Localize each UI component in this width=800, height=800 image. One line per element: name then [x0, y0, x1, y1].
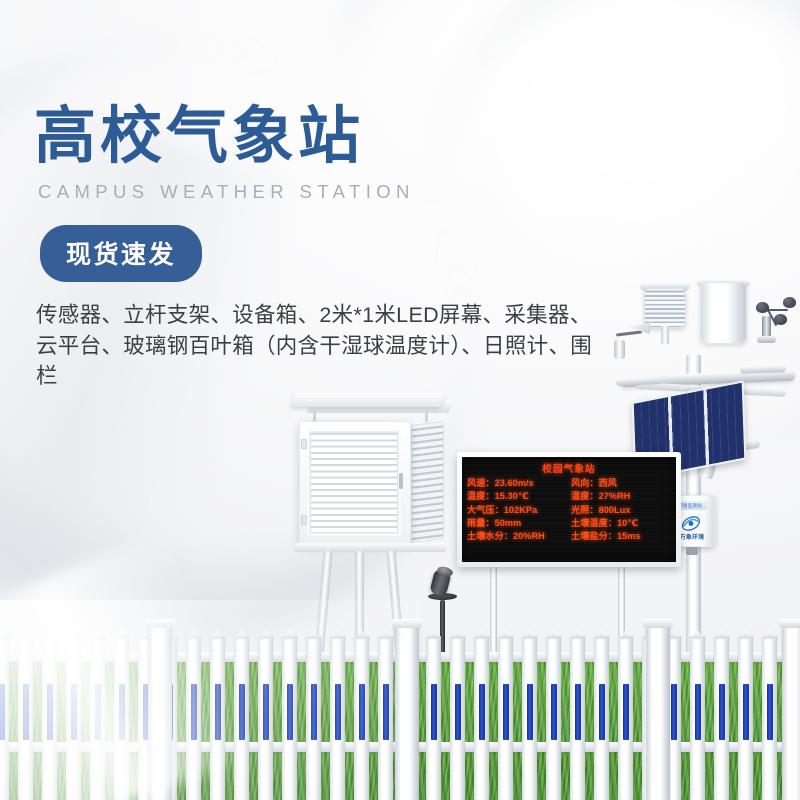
led-reading-wind-direction: 风向：西风 — [571, 477, 671, 490]
fence-picket-stripe — [191, 684, 197, 740]
led-reading-soil-moisture: 土壤水分：20%RH — [467, 530, 567, 543]
led-reading-humidity: 湿度：27%RH — [571, 490, 671, 503]
wind-vane-body — [614, 340, 625, 359]
fence-picket — [738, 636, 753, 800]
fence-picket — [18, 636, 33, 800]
fence-picket — [498, 636, 513, 800]
fence-picket — [114, 636, 129, 800]
led-screen: 校园气象站 风速：23.60m/s 风向：西风 温度：15.30℃ 湿度：27%… — [462, 457, 676, 562]
led-reading-rainfall: 雨量：50mm — [467, 517, 567, 530]
fence-picket-stripe — [263, 684, 269, 740]
led-display-board: 校园气象站 风速：23.60m/s 风向：西风 温度：15.30℃ 湿度：27%… — [457, 452, 681, 567]
fence-picket-stripe — [767, 684, 773, 740]
fence-picket — [450, 636, 465, 800]
fence-picket-stripe — [455, 684, 461, 740]
screen-hinge-top — [301, 439, 307, 449]
screen-roof-leg-left — [313, 407, 316, 422]
fence-post-cap — [392, 619, 422, 628]
led-readings-grid: 风速：23.60m/s 风向：西风 温度：15.30℃ 湿度：27%RH 大气压… — [467, 477, 671, 544]
fence-picket — [306, 636, 321, 800]
screen-hinge-bottom — [301, 515, 307, 525]
fence-picket-stripe — [383, 684, 389, 740]
anemometer-cup-1 — [756, 302, 769, 313]
fence-picket — [66, 636, 81, 800]
weather-station-scene: 环境监测站 万象环境 校园气象站 风速：23.60m/s 风向：西风 温度：15… — [0, 270, 800, 800]
page-title: 高校气象站 — [34, 104, 634, 169]
product-banner: 高校气象站 CAMPUS WEATHER STATION 现货速发 传感器、立杆… — [0, 0, 800, 800]
fence-picket — [282, 636, 297, 800]
fence-picket — [522, 636, 537, 800]
led-title: 校园气象站 — [467, 461, 671, 475]
fence-picket-stripe — [503, 684, 509, 740]
fence-picket-stripe — [23, 684, 29, 740]
led-reading-wind-speed: 风速：23.60m/s — [467, 477, 567, 490]
screen-roof-leg-right — [425, 407, 428, 422]
fence-picket-stripe — [623, 684, 629, 740]
fence-picket — [210, 636, 225, 800]
screen-louver-door — [307, 429, 401, 536]
fence-picket-stripe — [287, 684, 293, 740]
fence-picket-stripe — [239, 684, 245, 740]
fence-picket-stripe — [431, 684, 437, 740]
led-reading-temperature: 温度：15.30℃ — [467, 490, 567, 503]
screen-door-handle — [399, 473, 403, 489]
fence-post — [782, 626, 800, 800]
led-reading-soil-salinity: 土壤盐分：15ms — [571, 530, 671, 543]
fence-picket — [546, 636, 561, 800]
anemometer-base — [757, 336, 776, 343]
fence-picket-stripe — [95, 684, 101, 740]
fence-picket — [42, 636, 57, 800]
fence-picket-stripe — [479, 684, 485, 740]
anemometer-cup-2 — [783, 297, 796, 308]
screen-roof — [290, 393, 445, 407]
fence-picket-stripe — [311, 684, 317, 740]
screen-base — [293, 543, 448, 552]
fence-post — [395, 626, 419, 800]
fence-post — [148, 626, 172, 800]
wind-vane-rod — [616, 330, 642, 336]
fence-picket — [714, 636, 729, 800]
rain-gauge-icon — [700, 282, 747, 344]
fence-picket-stripe — [599, 684, 605, 740]
led-reading-pressure: 大气压：102KPa — [467, 504, 567, 517]
radiation-shield-stem — [661, 326, 669, 344]
stevenson-screen — [295, 393, 450, 578]
fence-picket-stripe — [551, 684, 557, 740]
anemometer-spoke-a — [768, 309, 788, 311]
fence-picket-stripe — [671, 684, 677, 740]
fence-post — [646, 626, 670, 800]
fence-post-cap — [145, 619, 175, 628]
fence-picket-stripe — [695, 684, 701, 740]
control-box-connector — [686, 547, 698, 555]
anemometer-cup-3 — [774, 314, 787, 325]
fence-picket-stripe — [0, 684, 5, 740]
fence-picket-stripe — [719, 684, 725, 740]
fence-picket — [234, 636, 249, 800]
fence-picket-stripe — [47, 684, 53, 740]
anemometer-stem — [762, 316, 771, 338]
fence-post-cap — [643, 619, 673, 628]
fence-picket-stripe — [71, 684, 77, 740]
fence-picket — [258, 636, 273, 800]
fence-picket — [90, 636, 105, 800]
fence-picket-stripe — [335, 684, 341, 740]
perimeter-fence — [0, 636, 800, 800]
fence-picket — [594, 636, 609, 800]
screen-side-louvers — [411, 421, 444, 543]
fence-picket — [762, 636, 777, 800]
fence-picket-stripe — [743, 684, 749, 740]
fence-picket — [570, 636, 585, 800]
fence-picket-stripe — [527, 684, 533, 740]
fence-picket-stripe — [119, 684, 125, 740]
fence-picket-stripe — [215, 684, 221, 740]
fence-picket — [426, 636, 441, 800]
fence-picket — [186, 636, 201, 800]
led-reading-soil-temperature: 土壤温度：10℃ — [571, 517, 671, 530]
radiation-shield-icon — [644, 288, 686, 328]
fence-picket-stripe — [359, 684, 365, 740]
fence-picket — [618, 636, 633, 800]
fence-picket — [378, 636, 393, 800]
fence-picket — [690, 636, 705, 800]
fence-picket-stripe — [575, 684, 581, 740]
fence-post-cap — [779, 619, 800, 628]
fence-picket — [354, 636, 369, 800]
fence-picket — [0, 636, 9, 800]
led-reading-illuminance: 光照：800Lux — [571, 504, 671, 517]
fence-picket — [474, 636, 489, 800]
brand-logo-icon — [680, 515, 702, 532]
page-subtitle: CAMPUS WEATHER STATION — [38, 181, 634, 203]
fence-picket — [330, 636, 345, 800]
